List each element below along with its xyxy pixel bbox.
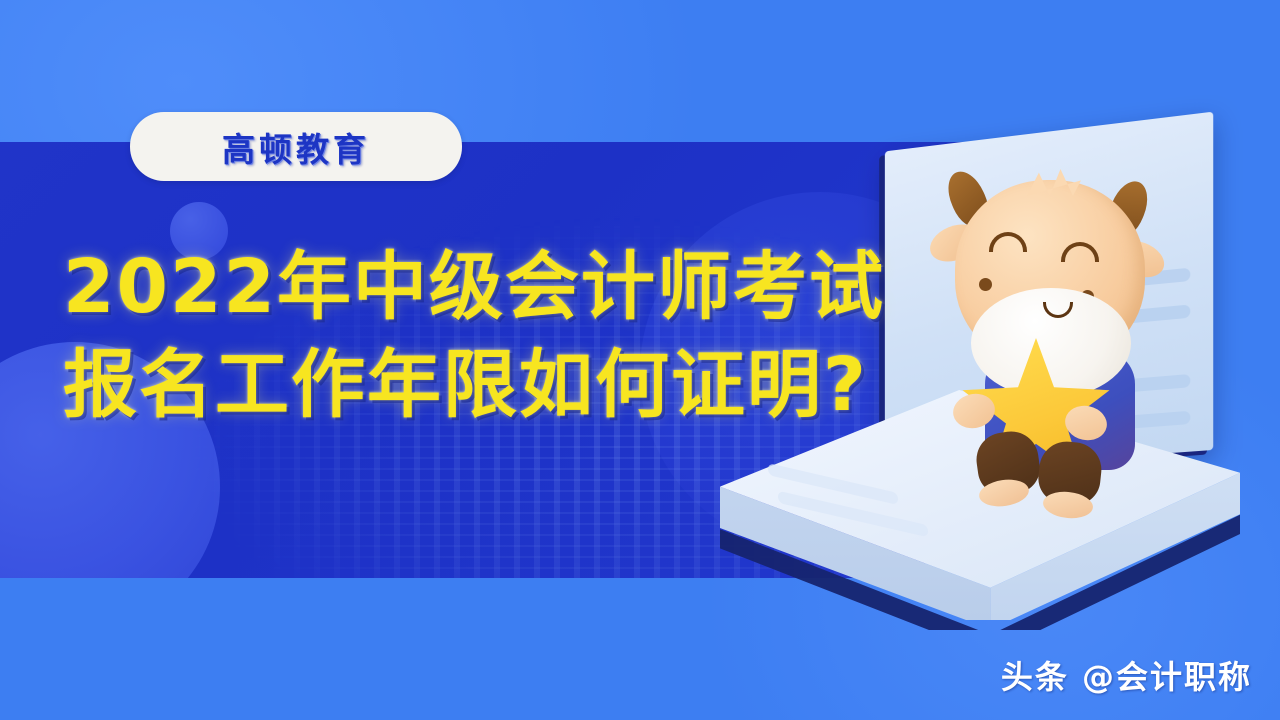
brand-badge: 高顿教育 bbox=[130, 112, 462, 181]
mascot-mouth bbox=[1043, 302, 1073, 318]
mascot-eye-right bbox=[1061, 242, 1099, 262]
page-text-line bbox=[1038, 304, 1190, 331]
mascot-leg-right bbox=[1036, 439, 1104, 507]
watermark-label: 头条 @会计职称 bbox=[1001, 652, 1252, 698]
mascot-hoof-right bbox=[1042, 489, 1094, 520]
promo-banner: 高顿教育 2022年中级会计师考试 报名工作年限如何证明? bbox=[0, 0, 1280, 720]
mascot-horn-right bbox=[1101, 176, 1154, 243]
headline-block: 2022年中级会计师考试 报名工作年限如何证明? bbox=[63, 250, 885, 422]
mascot-paw-right bbox=[1062, 402, 1110, 444]
mascot-ear-right bbox=[1109, 234, 1169, 284]
page-text-line bbox=[1048, 411, 1190, 435]
headline-line-1: 2022年中级会计师考试 bbox=[63, 250, 885, 324]
headline-line-2: 报名工作年限如何证明? bbox=[63, 348, 885, 422]
page-text-line bbox=[1092, 374, 1190, 395]
brand-badge-label: 高顿教育 bbox=[222, 123, 370, 171]
mascot-cheek-right bbox=[1081, 290, 1094, 303]
page-text-line bbox=[1068, 268, 1190, 293]
